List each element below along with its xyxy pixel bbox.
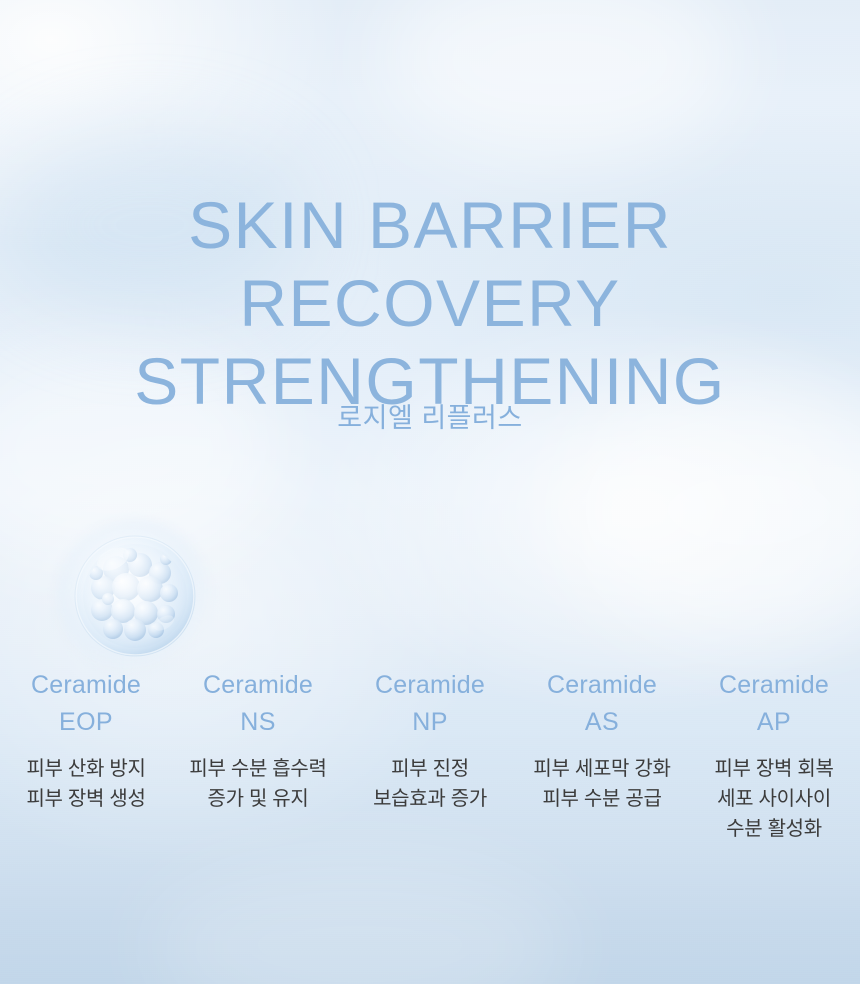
ceramide-column-np: Ceramide NP 피부 진정 보습효과 증가 [344, 668, 516, 844]
ceramide-description: 피부 수분 흡수력 증가 및 유지 [176, 754, 340, 814]
desc-line: 피부 진정 [348, 754, 512, 784]
ceramide-name: Ceramide [348, 668, 512, 702]
ceramide-columns: Ceramide EOP 피부 산화 방지 피부 장벽 생성 Ceramide … [0, 668, 860, 844]
ceramide-column-ap: Ceramide AP 피부 장벽 회복 세포 사이사이 수분 활성화 [688, 668, 860, 844]
desc-line: 수분 활성화 [692, 814, 856, 844]
desc-line: 보습효과 증가 [348, 784, 512, 814]
desc-line: 피부 세포막 강화 [520, 754, 684, 784]
background-wisp [380, 0, 740, 160]
ceramide-description: 피부 진정 보습효과 증가 [348, 754, 512, 814]
desc-line: 세포 사이사이 [692, 784, 856, 814]
ceramide-name: Ceramide [692, 668, 856, 702]
ceramide-column-ns: Ceramide NS 피부 수분 흡수력 증가 및 유지 [172, 668, 344, 844]
ceramide-code: AP [692, 702, 856, 742]
desc-line: 피부 장벽 회복 [692, 754, 856, 784]
desc-line: 피부 수분 흡수력 [176, 754, 340, 784]
ceramide-code: NS [176, 702, 340, 742]
ceramide-column-as: Ceramide AS 피부 세포막 강화 피부 수분 공급 [516, 668, 688, 844]
brand-subtitle: 로지엘 리플러스 [0, 396, 860, 435]
ceramide-code: AS [520, 702, 684, 742]
ceramide-code: EOP [4, 702, 168, 742]
sphere-glow [56, 519, 214, 677]
ceramide-description: 피부 세포막 강화 피부 수분 공급 [520, 754, 684, 814]
background-wisp [150, 860, 570, 984]
desc-line: 피부 산화 방지 [4, 754, 168, 784]
desc-line: 증가 및 유지 [176, 784, 340, 814]
ceramide-description: 피부 장벽 회복 세포 사이사이 수분 활성화 [692, 754, 856, 844]
ceramide-name: Ceramide [4, 668, 168, 702]
ceramide-column-eop: Ceramide EOP 피부 산화 방지 피부 장벽 생성 [0, 668, 172, 844]
ceramide-name: Ceramide [176, 668, 340, 702]
ceramide-sphere-icon [72, 533, 198, 659]
ceramide-name: Ceramide [520, 668, 684, 702]
ceramide-code: NP [348, 702, 512, 742]
headline-line-1: SKIN BARRIER [0, 186, 860, 264]
product-promo-poster: SKIN BARRIER RECOVERY STRENGTHENING 로지엘 … [0, 0, 860, 984]
desc-line: 피부 수분 공급 [520, 784, 684, 814]
ceramide-description: 피부 산화 방지 피부 장벽 생성 [4, 754, 168, 814]
headline-line-2: RECOVERY [0, 264, 860, 342]
page-title: SKIN BARRIER RECOVERY STRENGTHENING [0, 186, 860, 420]
desc-line: 피부 장벽 생성 [4, 784, 168, 814]
